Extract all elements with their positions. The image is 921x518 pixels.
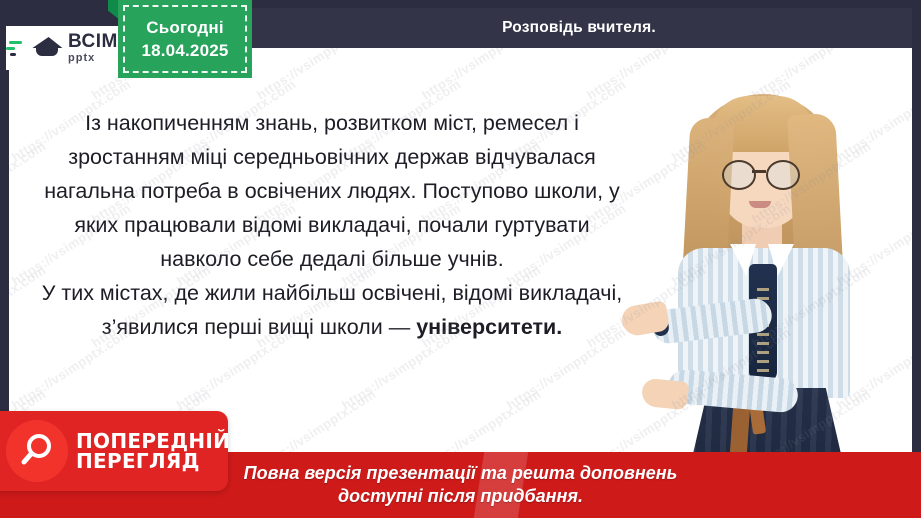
frame-right-edge xyxy=(912,0,921,518)
preview-badge[interactable]: ПОПЕРЕДНІЙ ПЕРЕГЛЯД xyxy=(0,411,228,491)
page-title: Розповідь вчителя. xyxy=(502,19,656,37)
presentation-slide: https://vsimpptx.comhttps://vsimpptx.com… xyxy=(0,0,921,518)
glasses-bridge xyxy=(752,170,766,173)
preview-badge-line-two: ПЕРЕГЛЯД xyxy=(76,451,230,471)
slide-header-bar: Розповідь вчителя. xyxy=(246,8,912,48)
banner-line-one: Повна версія презентації та решта доповн… xyxy=(244,463,678,484)
paragraph-two: У тих містах, де жили найбільш освічені,… xyxy=(42,281,623,339)
slide-body-text: Із накопиченням знань, розвитком міст, р… xyxy=(37,106,627,344)
magnifier-icon xyxy=(6,420,68,482)
lower-hand xyxy=(641,378,690,411)
today-date: 18.04.2025 xyxy=(141,41,228,61)
banner-line-two: доступні після придбання. xyxy=(338,486,583,507)
mouth xyxy=(749,201,771,208)
paragraph-one: Із накопиченням знань, розвитком міст, р… xyxy=(44,111,620,271)
preview-badge-text: ПОПЕРЕДНІЙ ПЕРЕГЛЯД xyxy=(76,431,230,472)
ribbon-body: Сьогодні 18.04.2025 xyxy=(118,0,252,78)
preview-badge-line-one: ПОПЕРЕДНІЙ xyxy=(76,431,230,451)
glasses-left-lens xyxy=(722,160,756,190)
speed-lines-icon xyxy=(6,35,28,61)
today-date-badge: Сьогодні 18.04.2025 xyxy=(108,0,252,80)
paragraph-two-highlight: університети. xyxy=(416,315,562,339)
graduation-cap-icon xyxy=(33,33,63,63)
today-label: Сьогодні xyxy=(146,18,224,38)
glasses-right-lens xyxy=(766,160,800,190)
